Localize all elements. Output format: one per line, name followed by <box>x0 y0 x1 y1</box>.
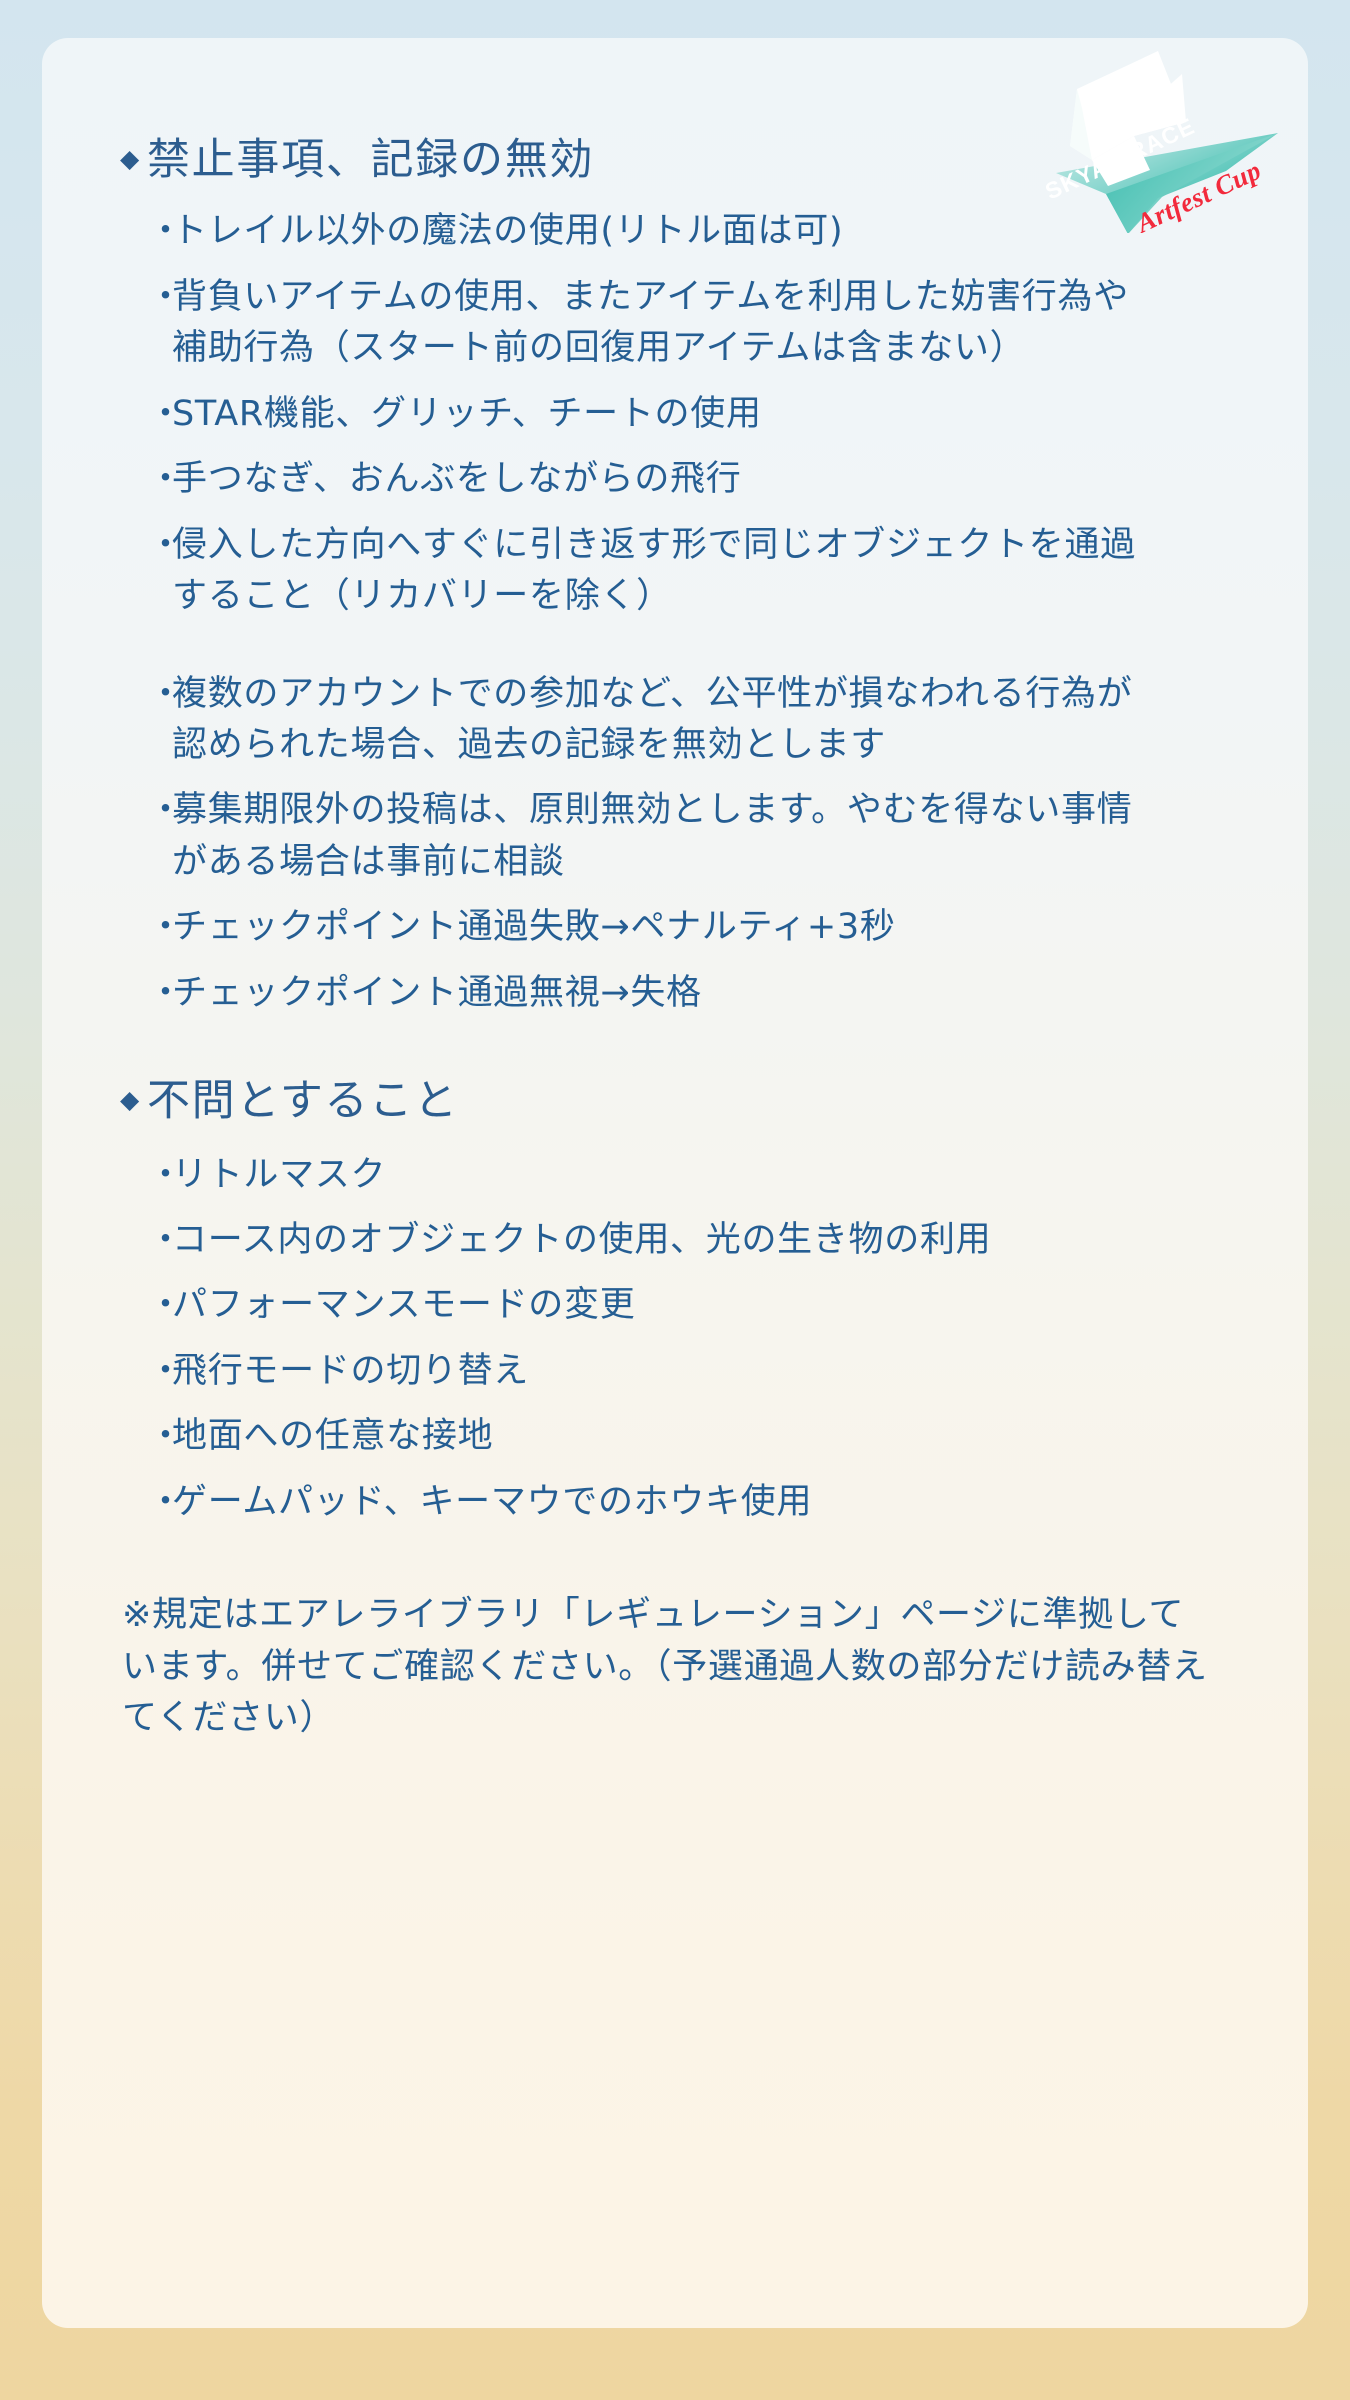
bullet-group-permitted: ・ リトルマスク ・ コース内のオブジェクトの使用、光の生き物の利用 ・ パフォ… <box>100 1150 1250 1529</box>
list-item: ・ 地面への任意な接地 <box>100 1411 1250 1462</box>
section-permitted: ◆ 不問とすること ・ リトルマスク ・ コース内のオブジェクトの使用、光の生き… <box>100 1075 1250 1528</box>
bullet-dot-icon: ・ <box>148 1280 172 1331</box>
bullet-dot-icon: ・ <box>148 206 172 257</box>
list-item-text: リトルマスク <box>172 1150 386 1201</box>
bullet-dot-icon: ・ <box>148 1150 172 1201</box>
bullet-dot-icon: ・ <box>148 1411 172 1462</box>
list-item-text: 飛行モードの切り替え <box>172 1346 529 1397</box>
list-item-text: 地面への任意な接地 <box>172 1411 493 1462</box>
footnote-text: ※規定はエアレライブラリ「レギュレーション」ページに準拠しています。併せてご確認… <box>100 1590 1212 1744</box>
bullet-dot-icon: ・ <box>148 902 172 953</box>
diamond-bullet-icon: ◆ <box>120 146 141 171</box>
list-item-text: パフォーマンスモードの変更 <box>172 1280 635 1331</box>
bullet-dot-icon: ・ <box>148 454 172 505</box>
list-item: ・ コース内のオブジェクトの使用、光の生き物の利用 <box>100 1215 1250 1266</box>
list-item-text: 複数のアカウントでの参加など、公平性が損なわれる行為が認められた場合、過去の記録… <box>172 669 1162 772</box>
list-item-text: STAR機能、グリッチ、チートの使用 <box>172 389 762 440</box>
bullet-dot-icon: ・ <box>148 1477 172 1528</box>
list-item: ・ 侵入した方向へすぐに引き返す形で同じオブジェクトを通過すること（リカバリーを… <box>100 520 1250 623</box>
bullet-dot-icon: ・ <box>148 669 172 720</box>
list-item: ・ チェックポイント通過失敗→ペナルティ+3秒 <box>100 902 1250 953</box>
list-item: ・ 手つなぎ、おんぶをしながらの飛行 <box>100 454 1250 505</box>
rules-content: ◆ 禁止事項、記録の無効 ・ トレイル以外の魔法の使用(リトル面は可) ・ 背負… <box>42 38 1308 1745</box>
section-heading-prohibited: ◆ 禁止事項、記録の無効 <box>100 134 1250 186</box>
bullet-dot-icon: ・ <box>148 785 172 836</box>
bullet-dot-icon: ・ <box>148 389 172 440</box>
list-item-text: チェックポイント通過失敗→ペナルティ+3秒 <box>172 902 896 953</box>
list-item: ・ 募集期限外の投稿は、原則無効とします。やむを得ない事情がある場合は事前に相談 <box>100 785 1250 888</box>
list-item: ・ 背負いアイテムの使用、またアイテムを利用した妨害行為や補助行為（スタート前の… <box>100 272 1250 375</box>
bullet-group-prohibited-a: ・ トレイル以外の魔法の使用(リトル面は可) ・ 背負いアイテムの使用、またアイ… <box>100 206 1250 622</box>
section-heading-text: 不問とすること <box>147 1075 459 1127</box>
bullet-dot-icon: ・ <box>148 272 172 323</box>
bullet-dot-icon: ・ <box>148 1215 172 1266</box>
list-item: ・ 飛行モードの切り替え <box>100 1346 1250 1397</box>
list-item: ・ トレイル以外の魔法の使用(リトル面は可) <box>100 206 1250 257</box>
bullet-dot-icon: ・ <box>148 1346 172 1397</box>
list-item-text: ゲームパッド、キーマウでのホウキ使用 <box>172 1477 812 1528</box>
list-item: ・ ゲームパッド、キーマウでのホウキ使用 <box>100 1477 1250 1528</box>
list-item-text: 募集期限外の投稿は、原則無効とします。やむを得ない事情がある場合は事前に相談 <box>172 785 1162 888</box>
list-item-text: 侵入した方向へすぐに引き返す形で同じオブジェクトを通過すること（リカバリーを除く… <box>172 520 1162 623</box>
section-heading-permitted: ◆ 不問とすること <box>100 1075 1250 1127</box>
section-prohibited: ◆ 禁止事項、記録の無効 ・ トレイル以外の魔法の使用(リトル面は可) ・ 背負… <box>100 134 1250 1019</box>
bullet-group-prohibited-b: ・ 複数のアカウントでの参加など、公平性が損なわれる行為が認められた場合、過去の… <box>100 669 1250 1020</box>
list-item: ・ リトルマスク <box>100 1150 1250 1201</box>
rules-card: SKYAIRRACE Artfest Cup ◆ 禁止事項、記録の無効 ・ トレ… <box>42 38 1308 2328</box>
list-item-text: コース内のオブジェクトの使用、光の生き物の利用 <box>172 1215 991 1266</box>
list-item-text: 背負いアイテムの使用、またアイテムを利用した妨害行為や補助行為（スタート前の回復… <box>172 272 1162 375</box>
list-item: ・ 複数のアカウントでの参加など、公平性が損なわれる行為が認められた場合、過去の… <box>100 669 1250 772</box>
list-item-text: トレイル以外の魔法の使用(リトル面は可) <box>172 206 843 257</box>
list-item-text: チェックポイント通過無視→失格 <box>172 968 702 1019</box>
list-item: ・ チェックポイント通過無視→失格 <box>100 968 1250 1019</box>
bullet-dot-icon: ・ <box>148 520 172 571</box>
list-item: ・ パフォーマンスモードの変更 <box>100 1280 1250 1331</box>
section-heading-text: 禁止事項、記録の無効 <box>147 134 594 186</box>
list-item: ・ STAR機能、グリッチ、チートの使用 <box>100 389 1250 440</box>
bullet-dot-icon: ・ <box>148 968 172 1019</box>
diamond-bullet-icon: ◆ <box>120 1087 141 1112</box>
list-item-text: 手つなぎ、おんぶをしながらの飛行 <box>172 454 741 505</box>
